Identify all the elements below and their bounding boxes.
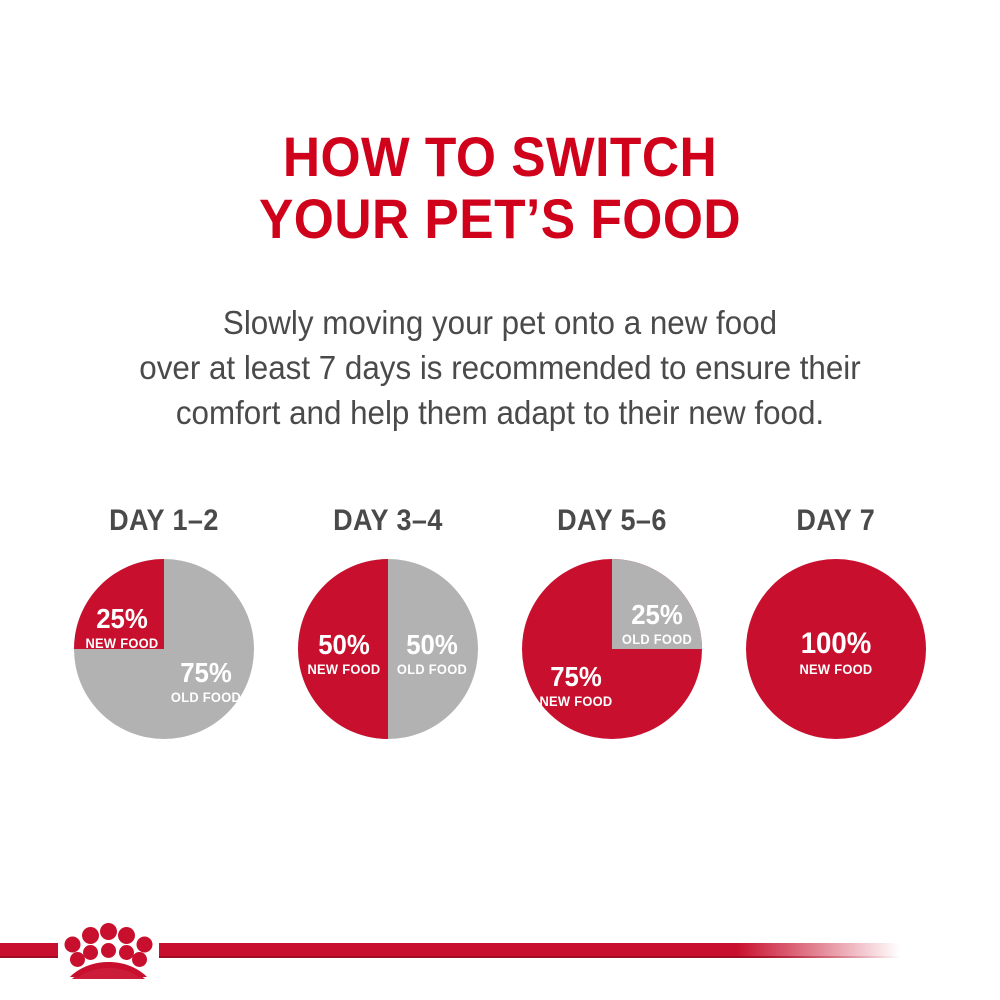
pie-chart: 25% NEW FOOD 75% OLD FOOD <box>74 559 254 739</box>
pie-slice-new-food <box>298 559 388 739</box>
footer-rule-left <box>0 943 58 958</box>
infographic-page: HOW TO SWITCH YOUR PET’S FOOD Slowly mov… <box>0 0 1000 1000</box>
pie-slice-new-food <box>74 559 164 649</box>
chart-day-label: DAY 7 <box>797 505 876 537</box>
pie-chart-row: DAY 1–2 25% NEW FOOD 75% OLD FOOD DAY 3–… <box>0 505 1000 775</box>
pie-chart-svg <box>298 559 478 739</box>
page-subtitle-line-1: Slowly moving your pet onto a new food <box>25 300 975 345</box>
page-subtitle-line-2: over at least 7 days is recommended to e… <box>25 345 975 390</box>
pie-chart: 25% OLD FOOD 75% NEW FOOD <box>522 559 702 739</box>
chart-day-5-6: DAY 5–6 25% OLD FOOD 75% NEW FOOD <box>506 505 718 775</box>
chart-day-7: DAY 7 100% NEW FOOD <box>730 505 942 775</box>
chart-day-1-2: DAY 1–2 25% NEW FOOD 75% OLD FOOD <box>58 505 270 775</box>
pie-chart: 50% NEW FOOD 50% OLD FOOD <box>298 559 478 739</box>
page-title: HOW TO SWITCH YOUR PET’S FOOD <box>40 126 960 250</box>
footer-rule-right <box>159 943 900 958</box>
pie-chart-svg <box>746 559 926 739</box>
page-subtitle: Slowly moving your pet onto a new food o… <box>25 300 975 435</box>
footer <box>0 940 1000 1000</box>
pie-chart-svg <box>74 559 254 739</box>
pie-slice-new-food <box>746 559 926 739</box>
pie-slice-old-food <box>612 559 702 649</box>
page-title-line-2: YOUR PET’S FOOD <box>40 188 960 250</box>
page-title-line-1: HOW TO SWITCH <box>40 126 960 188</box>
royal-canin-crown-logo-icon <box>58 917 159 979</box>
pie-chart-svg <box>522 559 702 739</box>
page-subtitle-line-3: comfort and help them adapt to their new… <box>25 390 975 435</box>
chart-day-label: DAY 5–6 <box>557 505 667 537</box>
chart-day-3-4: DAY 3–4 50% NEW FOOD 50% OLD FOOD <box>282 505 494 775</box>
chart-day-label: DAY 1–2 <box>109 505 219 537</box>
chart-day-label: DAY 3–4 <box>333 505 443 537</box>
pie-chart: 100% NEW FOOD <box>746 559 926 739</box>
